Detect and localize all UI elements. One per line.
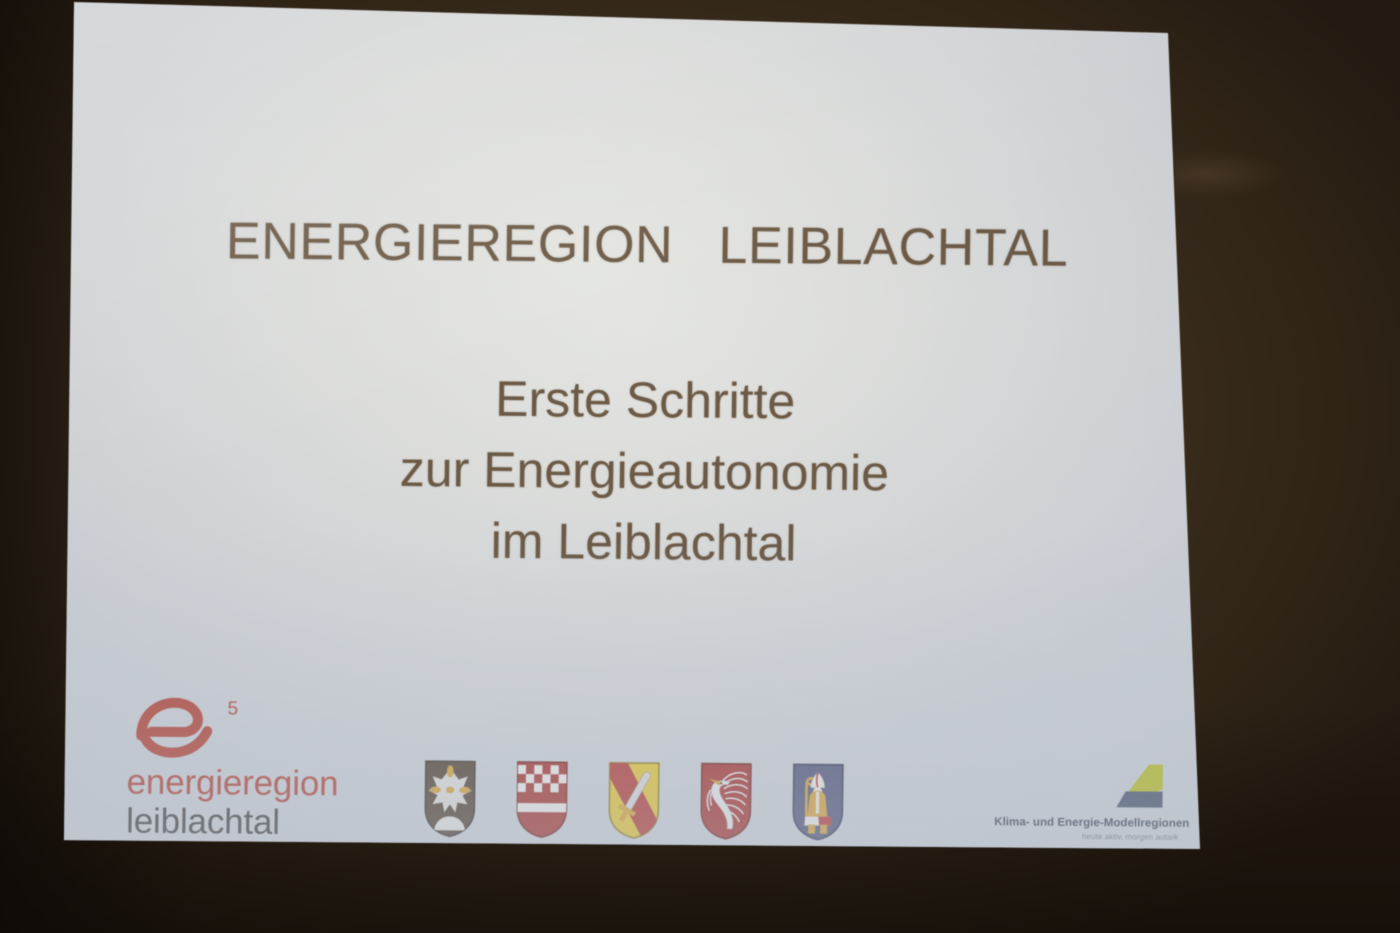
- slide-subtitle-line-1: Erste Schritte: [69, 360, 1222, 441]
- kem-logo-tagline: heute aktiv, morgen autark: [994, 831, 1178, 842]
- room-wall: ENERGIEREGION LEIBLACHTAL Erste Schritte…: [0, 0, 1400, 933]
- e5-logo-line-1: energieregion: [126, 765, 338, 802]
- slide-content: ENERGIEREGION LEIBLACHTAL Erste Schritte…: [64, 2, 1226, 859]
- e5-logo-icon: [131, 696, 242, 759]
- coat-of-arms-lochau-icon: [514, 759, 570, 839]
- kem-logo: Klima- und Energie-Modellregionen heute …: [994, 760, 1185, 848]
- coat-of-arms-hoerbranz-icon: [422, 758, 478, 838]
- e5-logo-line-2: leiblachtal: [126, 804, 280, 840]
- coat-of-arms-eichenberg-icon: [606, 760, 662, 840]
- kem-logo-icon: [1088, 761, 1167, 814]
- projection-clip: ENERGIEREGION LEIBLACHTAL Erste Schritte…: [0, 0, 1400, 933]
- presentation-slide: ENERGIEREGION LEIBLACHTAL Erste Schritte…: [64, 2, 1226, 859]
- projection-area: ENERGIEREGION LEIBLACHTAL Erste Schritte…: [0, 0, 1400, 933]
- slide-subtitle: Erste Schritte zur Energieautonomie im L…: [67, 360, 1222, 583]
- coat-of-arms-moeggers-icon: [790, 761, 846, 841]
- slide-subtitle-line-2: zur Energieautonomie: [68, 431, 1221, 512]
- municipal-crests-row: [422, 758, 893, 846]
- slide-title: ENERGIEREGION LEIBLACHTAL: [71, 210, 1224, 280]
- kem-logo-title: Klima- und Energie-Modellregionen: [994, 816, 1184, 830]
- e5-superscript: 5: [227, 698, 238, 720]
- e5-energieregion-logo: 5 energieregion leiblachtal: [122, 696, 374, 838]
- coat-of-arms-hohenweiler-icon: [698, 761, 754, 841]
- slide-subtitle-line-3: im Leiblachtal: [67, 502, 1220, 583]
